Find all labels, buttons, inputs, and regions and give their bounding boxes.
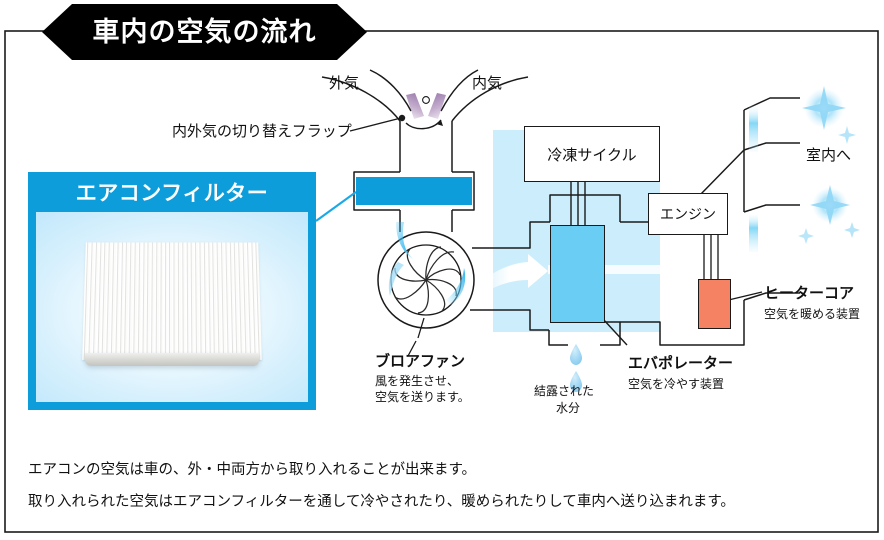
inline-filter-element (356, 177, 472, 205)
caption-block: エアコンの空気は車の、外・中両方から取り入れることが出来ます。 取り入れられた空… (28, 458, 735, 522)
inside-air-label: 内気 (472, 72, 502, 93)
blower-fan-desc-1: 風を発生させ、 (375, 372, 459, 389)
filter-callout-panel: エアコンフィルター (28, 172, 316, 410)
flap-leader-dot (399, 115, 405, 121)
air-switch-flaps (406, 93, 446, 119)
filter-pleats (82, 243, 262, 360)
page-title: 車内の空気の流れ (93, 19, 317, 46)
caption-line-1: エアコンの空気は車の、外・中両方から取り入れることが出来ます。 (28, 458, 735, 479)
cabin-air-filter-photo (36, 212, 308, 402)
blower-fan-title: ブロアファン (375, 350, 465, 371)
coolant-pipes (704, 233, 718, 280)
refrigeration-cycle-label: 冷凍サイクル (547, 144, 636, 165)
evaporator-element (550, 225, 605, 323)
condensed-water-title-2: 水分 (556, 399, 580, 416)
heater-core-desc: 空気を暖める装置 (764, 305, 860, 322)
cabin-vent-glow-2 (749, 212, 758, 252)
outside-air-label: 外気 (329, 72, 359, 93)
flap-leader-line (350, 118, 401, 131)
heater-core-title: ヒーターコア (764, 282, 854, 303)
caption-line-2: 取り入れられた空気はエアコンフィルターを通して冷やされたり、暖められたりして車内… (28, 490, 735, 511)
engine-label: エンジン (660, 204, 716, 224)
evaporator-title: エバポレーター (628, 352, 733, 373)
flap-rotation-arrow (406, 120, 441, 129)
diagram-canvas: 車内の空気の流れ エアコンフィルター 冷凍サイクル エンジン 外気 内気 内外気… (0, 0, 884, 540)
engine-box: エンジン (648, 193, 728, 235)
filter-object (84, 241, 260, 373)
blower-fan-desc-2: 空気を送ります。 (375, 388, 470, 405)
filter-frame-base (85, 353, 259, 366)
switch-flap-label: 内外気の切り替えフラップ (172, 120, 352, 141)
sparkle-icon-bottom (798, 185, 860, 244)
to-cabin-label: 室内へ (806, 144, 851, 165)
refrigeration-cycle-box: 冷凍サイクル (524, 126, 660, 182)
condensed-water-title-1: 結露された (534, 382, 594, 399)
evaporator-desc: 空気を冷やす装置 (628, 375, 724, 392)
cabin-vent-glow (749, 104, 758, 152)
title-banner: 車内の空気の流れ (42, 4, 367, 60)
heater-core-element (698, 279, 731, 329)
filter-leader-line (316, 192, 356, 221)
filter-panel-title: エアコンフィルター (28, 172, 316, 212)
sparkle-icon-top (802, 86, 856, 144)
